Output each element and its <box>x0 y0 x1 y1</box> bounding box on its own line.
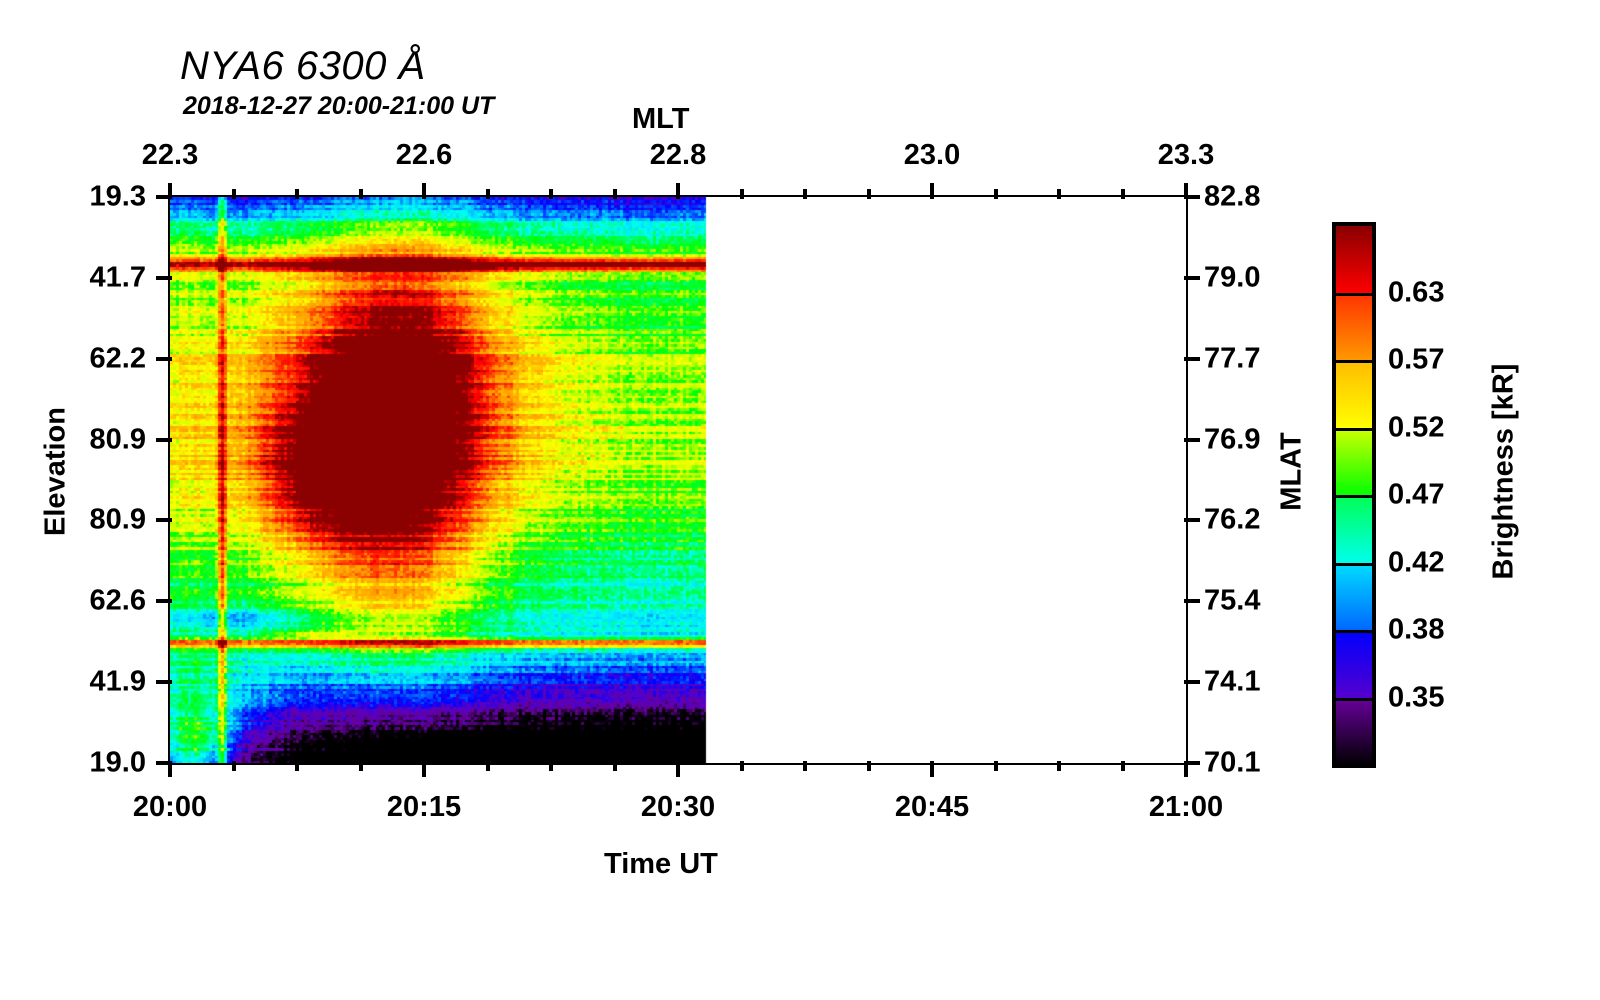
left-tick-label: 80.9 <box>90 504 146 537</box>
colorbar <box>1332 222 1376 768</box>
left-tick-label: 62.2 <box>90 342 146 375</box>
right-tick-label: 75.4 <box>1204 585 1260 618</box>
colorbar-divider <box>1336 293 1372 296</box>
tick-bottom-major <box>422 761 426 777</box>
tick-bottom-minor <box>359 761 363 771</box>
tick-right-major <box>1184 357 1200 361</box>
colorbar-divider <box>1336 630 1372 633</box>
tick-right-major <box>1184 518 1200 522</box>
right-tick-label: 76.9 <box>1204 423 1260 456</box>
tick-top-minor <box>803 189 807 199</box>
colorbar-divider <box>1336 698 1372 701</box>
top-tick-label: 23.3 <box>1158 139 1214 172</box>
left-tick-label: 41.9 <box>90 666 146 699</box>
tick-right-major <box>1184 680 1200 684</box>
colorbar-segment <box>1336 699 1372 767</box>
tick-bottom-minor <box>1057 761 1061 771</box>
tick-left-major <box>156 680 172 684</box>
tick-top-minor <box>549 189 553 199</box>
colorbar-segment <box>1336 564 1372 632</box>
tick-top-minor <box>1121 189 1125 199</box>
bottom-tick-label: 20:00 <box>133 791 207 824</box>
tick-bottom-minor <box>232 761 236 771</box>
tick-top-minor <box>295 189 299 199</box>
tick-right-major <box>1184 438 1200 442</box>
bottom-tick-label: 20:15 <box>387 791 461 824</box>
left-tick-label: 19.3 <box>90 181 146 214</box>
tick-right-major <box>1184 195 1200 199</box>
tick-left-major <box>156 357 172 361</box>
tick-top-major <box>422 183 426 199</box>
top-axis-title: MLT <box>632 103 689 136</box>
top-tick-label: 22.3 <box>142 139 198 172</box>
tick-right-major <box>1184 599 1200 603</box>
colorbar-tick-label: 0.52 <box>1388 411 1444 444</box>
tick-bottom-major <box>930 761 934 777</box>
figure-title: NYA6 6300 Å <box>180 44 426 89</box>
tick-top-minor <box>486 189 490 199</box>
tick-right-major <box>1184 276 1200 280</box>
figure-subtitle: 2018-12-27 20:00-21:00 UT <box>183 92 494 121</box>
tick-top-minor <box>359 189 363 199</box>
left-axis-title: Elevation <box>40 372 73 572</box>
tick-bottom-minor <box>740 761 744 771</box>
colorbar-tick-label: 0.63 <box>1388 276 1444 309</box>
left-tick-label: 80.9 <box>90 423 146 456</box>
top-tick-label: 23.0 <box>904 139 960 172</box>
tick-bottom-minor <box>803 761 807 771</box>
tick-left-major <box>156 438 172 442</box>
top-tick-label: 22.6 <box>396 139 452 172</box>
colorbar-tick-label: 0.47 <box>1388 479 1444 512</box>
tick-top-minor <box>613 189 617 199</box>
colorbar-divider <box>1336 495 1372 498</box>
top-tick-label: 22.8 <box>650 139 706 172</box>
bottom-axis-title: Time UT <box>604 848 718 881</box>
colorbar-tick-label: 0.35 <box>1388 681 1444 714</box>
colorbar-tick-label: 0.38 <box>1388 614 1444 647</box>
right-tick-label: 82.8 <box>1204 181 1260 214</box>
tick-left-major <box>156 599 172 603</box>
colorbar-segment <box>1336 631 1372 699</box>
colorbar-divider <box>1336 428 1372 431</box>
keogram-figure: NYA6 6300 Å 2018-12-27 20:00-21:00 UT ML… <box>0 0 1600 1000</box>
bottom-tick-label: 20:30 <box>641 791 715 824</box>
tick-left-major <box>156 195 172 199</box>
colorbar-tick-label: 0.57 <box>1388 344 1444 377</box>
tick-top-minor <box>740 189 744 199</box>
tick-bottom-minor <box>867 761 871 771</box>
tick-bottom-major <box>676 761 680 777</box>
keogram-image <box>170 197 1186 763</box>
colorbar-segment <box>1336 496 1372 564</box>
tick-right-major <box>1184 761 1200 765</box>
colorbar-divider <box>1336 360 1372 363</box>
tick-top-minor <box>867 189 871 199</box>
tick-top-major <box>930 183 934 199</box>
tick-top-minor <box>1057 189 1061 199</box>
bottom-tick-label: 21:00 <box>1149 791 1223 824</box>
tick-bottom-minor <box>295 761 299 771</box>
right-axis-title: MLAT <box>1276 372 1309 572</box>
tick-top-major <box>676 183 680 199</box>
tick-left-major <box>156 518 172 522</box>
colorbar-segment <box>1336 429 1372 497</box>
left-tick-label: 62.6 <box>90 585 146 618</box>
bottom-tick-label: 20:45 <box>895 791 969 824</box>
right-tick-label: 74.1 <box>1204 666 1260 699</box>
tick-bottom-minor <box>549 761 553 771</box>
tick-top-minor <box>994 189 998 199</box>
colorbar-segment <box>1336 294 1372 362</box>
left-tick-label: 41.7 <box>90 261 146 294</box>
colorbar-title: Brightness [kR] <box>1488 332 1521 612</box>
colorbar-segment <box>1336 226 1372 294</box>
right-tick-label: 76.2 <box>1204 504 1260 537</box>
tick-bottom-minor <box>486 761 490 771</box>
tick-left-major <box>156 761 172 765</box>
tick-bottom-minor <box>613 761 617 771</box>
tick-top-minor <box>232 189 236 199</box>
tick-left-major <box>156 276 172 280</box>
tick-bottom-minor <box>994 761 998 771</box>
left-tick-label: 19.0 <box>90 747 146 780</box>
tick-bottom-minor <box>1121 761 1125 771</box>
colorbar-segment <box>1336 361 1372 429</box>
right-tick-label: 77.7 <box>1204 342 1260 375</box>
right-tick-label: 79.0 <box>1204 261 1260 294</box>
right-tick-label: 70.1 <box>1204 747 1260 780</box>
colorbar-divider <box>1336 563 1372 566</box>
colorbar-tick-label: 0.42 <box>1388 546 1444 579</box>
